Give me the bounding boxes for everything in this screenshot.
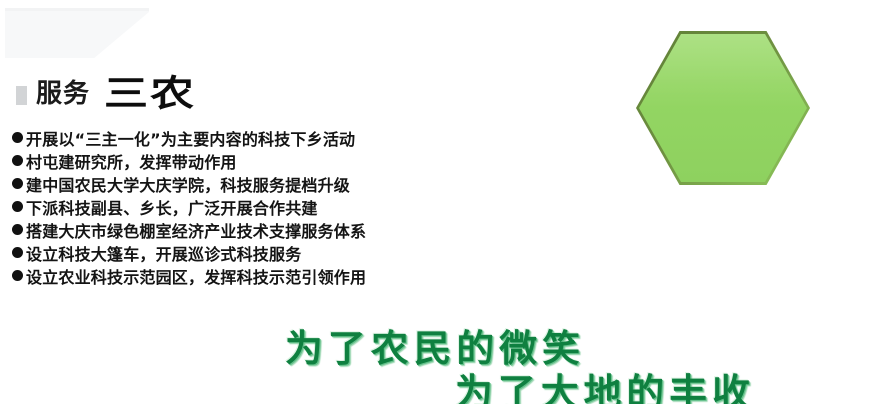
title-marker-icon — [16, 86, 27, 105]
list-item: 村屯建研究所，发挥带动作用 — [12, 149, 572, 172]
corner-banner-shape — [5, 8, 149, 58]
slide-canvas: 服务 三农 开展以“三主一化”为主要内容的科技下乡活动 村屯建研究所，发挥带动作… — [0, 0, 892, 404]
slogan-line-2: 为了大地的丰收 — [455, 362, 755, 404]
list-item: 设立科技大篷车，开展巡诊式科技服务 — [12, 241, 572, 264]
corner-banner-topline — [5, 8, 149, 11]
list-item: 搭建大庆市绿色棚室经济产业技术支撑服务体系 — [12, 218, 572, 241]
list-item: 设立农业科技示范园区，发挥科技示范引领作用 — [12, 264, 572, 287]
bullet-dot-icon — [12, 178, 23, 189]
list-item: 开展以“三主一化”为主要内容的科技下乡活动 — [12, 126, 572, 149]
page-title: 服务 三农 — [16, 68, 196, 112]
list-item-label: 设立农业科技示范园区，发挥科技示范引领作用 — [26, 264, 366, 288]
list-item-label: 开展以“三主一化”为主要内容的科技下乡活动 — [26, 126, 355, 150]
list-item: 建中国农民大学大庆学院，科技服务提档升级 — [12, 172, 572, 195]
bullet-dot-icon — [12, 201, 23, 212]
list-item-label: 下派科技副县、乡长，广泛开展合作共建 — [26, 195, 318, 219]
bullet-list: 开展以“三主一化”为主要内容的科技下乡活动 村屯建研究所，发挥带动作用 建中国农… — [12, 126, 572, 287]
list-item-label: 建中国农民大学大庆学院，科技服务提档升级 — [26, 172, 350, 196]
list-item-label: 搭建大庆市绿色棚室经济产业技术支撑服务体系 — [26, 218, 366, 242]
list-item-label: 设立科技大篷车，开展巡诊式科技服务 — [26, 241, 301, 265]
list-item: 下派科技副县、乡长，广泛开展合作共建 — [12, 195, 572, 218]
bullet-dot-icon — [12, 155, 23, 166]
bullet-dot-icon — [12, 270, 23, 281]
bullet-dot-icon — [12, 247, 23, 258]
title-big-text: 三农 — [104, 76, 196, 112]
slogan-block: 为了农民的微笑 为了大地的丰收 — [0, 312, 892, 404]
title-small-text: 服务 — [36, 81, 90, 107]
bullet-dot-icon — [12, 224, 23, 235]
list-item-label: 村屯建研究所，发挥带动作用 — [26, 149, 237, 173]
bullet-dot-icon — [12, 132, 23, 143]
hexagon-graphic — [636, 31, 810, 185]
hexagon-face-icon — [639, 34, 807, 182]
